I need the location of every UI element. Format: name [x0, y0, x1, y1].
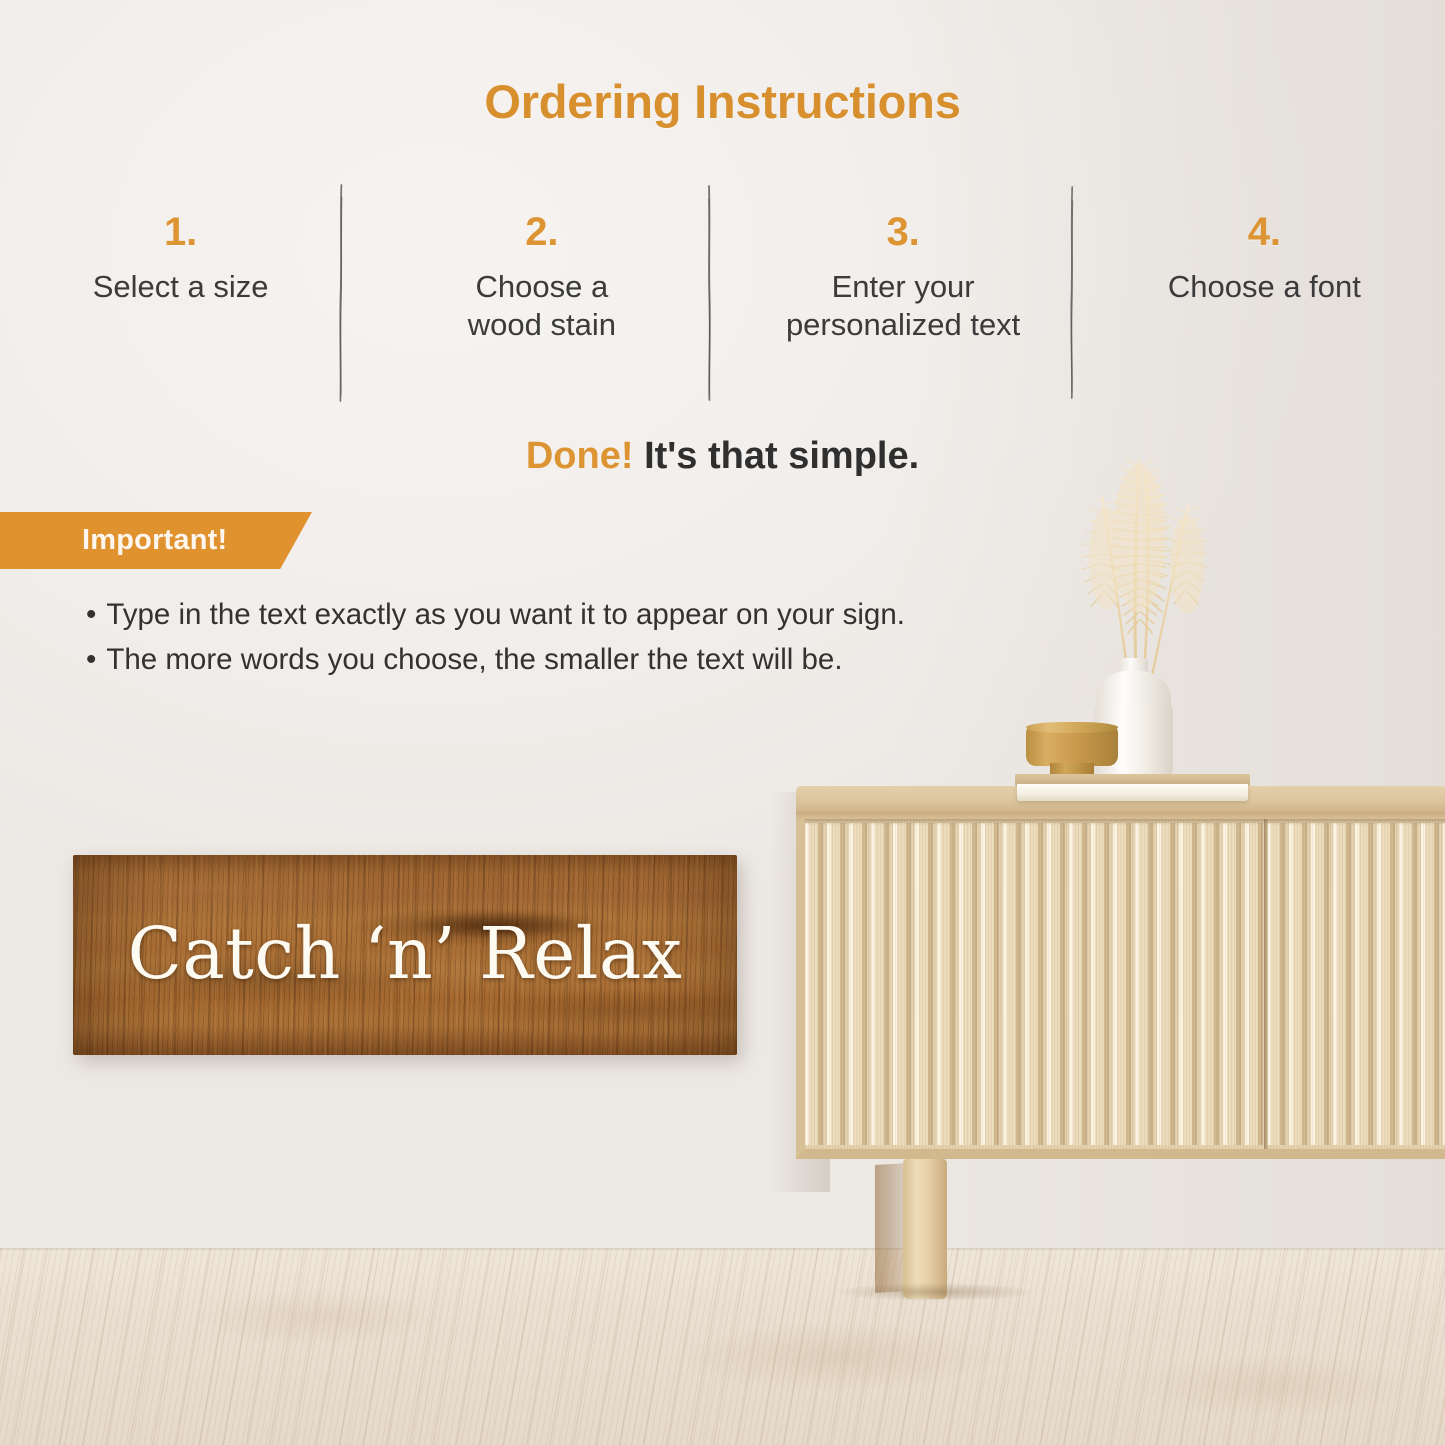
done-rest: It's that simple. [644, 435, 919, 477]
step-1-label: Select a size [14, 268, 347, 306]
step-4-number: 4. [1098, 212, 1431, 252]
sideboard-wood-grain [805, 819, 1445, 1149]
step-2-label: Choose a wood stain [375, 268, 708, 345]
step-4-label: Choose a font [1098, 268, 1431, 306]
sign-board: Catch ‘n’ Relax [73, 855, 737, 1055]
bullet-item-1-text: Type in the text exactly as you want it … [106, 598, 905, 631]
wood-floor [0, 1248, 1445, 1445]
important-banner-label: Important! [82, 524, 227, 557]
book-pages [1017, 784, 1248, 801]
bullet-item-2-text: The more words you choose, the smaller t… [106, 643, 842, 676]
page-title: Ordering Instructions [0, 74, 1445, 129]
wooden-sign: Catch ‘n’ Relax [73, 855, 737, 1055]
important-bullet-list: •Type in the text exactly as you want it… [86, 592, 1096, 683]
step-1-number: 1. [14, 212, 347, 252]
floor-tone-variation [0, 1248, 1445, 1445]
step-4: 4. Choose a font [1084, 212, 1445, 306]
bullet-item-2: •The more words you choose, the smaller … [86, 637, 1096, 682]
step-3: 3. Enter your personalized text [723, 212, 1084, 345]
sideboard-doors [796, 819, 1445, 1159]
bowl-rim [1026, 722, 1118, 733]
important-banner: Important! [0, 512, 312, 569]
bullet-item-1: •Type in the text exactly as you want it… [86, 592, 1096, 637]
sideboard-inner-shadow [805, 819, 1445, 825]
sign-personalized-text: Catch ‘n’ Relax [73, 855, 737, 1055]
sideboard-leg [903, 1159, 947, 1299]
step-2-number: 2. [375, 212, 708, 252]
bullet-marker: • [86, 598, 96, 631]
done-highlight: Done! [526, 435, 634, 477]
done-line: Done! It's that simple. [0, 437, 1445, 475]
ordering-instructions-graphic: Ordering Instructions 1. Select a size 2… [0, 0, 1445, 1445]
step-3-label: Enter your personalized text [737, 268, 1070, 345]
sideboard-door-seam [1264, 819, 1268, 1149]
bullet-marker: • [86, 643, 96, 676]
step-3-number: 3. [737, 212, 1070, 252]
stacked-books [1015, 774, 1250, 804]
step-2: 2. Choose a wood stain [361, 212, 722, 345]
wooden-bowl [1026, 722, 1118, 780]
sideboard [796, 786, 1445, 1186]
sideboard-floor-shadow [836, 1283, 1036, 1301]
step-1: 1. Select a size [0, 212, 361, 306]
steps-row: 1. Select a size 2. Choose a wood stain … [0, 212, 1445, 412]
